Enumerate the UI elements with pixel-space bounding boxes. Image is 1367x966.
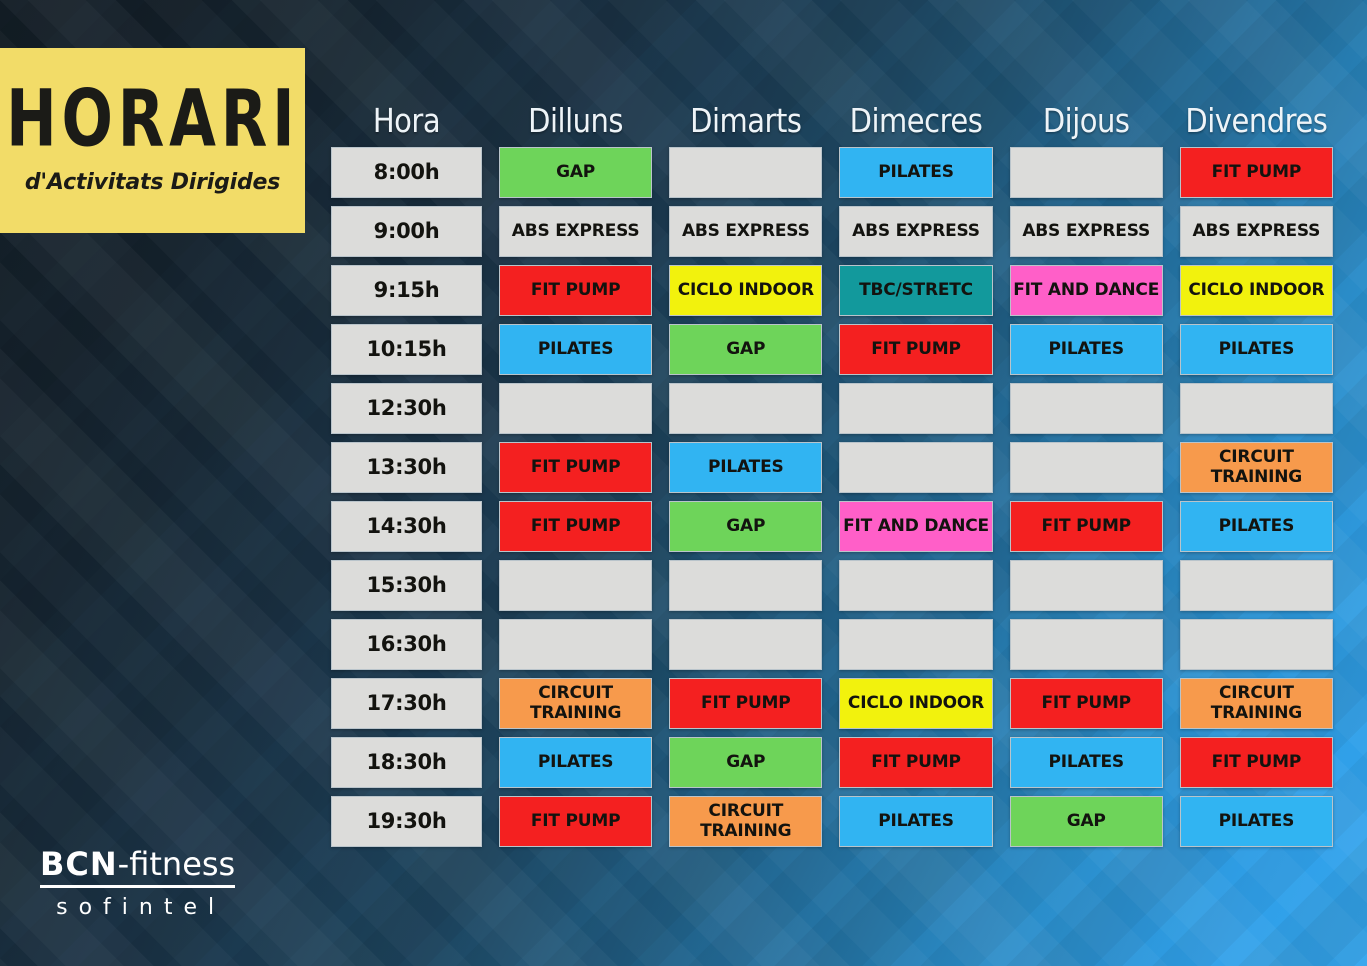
activity-label: ABS EXPRESS <box>682 222 810 240</box>
table-row: 14:30hFIT PUMPGAPFIT AND DANCEFIT PUMPPI… <box>331 501 1333 552</box>
table-row: 17:30hCIRCUIT TRAININGFIT PUMPCICLO INDO… <box>331 678 1333 729</box>
activity-label: FIT PUMP <box>531 812 621 830</box>
time-cell: 16:30h <box>331 619 482 670</box>
time-cell: 15:30h <box>331 560 482 611</box>
activity-cell[interactable]: PILATES <box>839 796 992 847</box>
activity-label: PILATES <box>878 163 954 181</box>
activity-cell[interactable]: ABS EXPRESS <box>839 206 992 257</box>
activity-label: GAP <box>556 163 595 181</box>
table-row: 15:30h <box>331 560 1333 611</box>
empty-cell <box>499 560 652 611</box>
empty-cell <box>1180 619 1333 670</box>
activity-cell[interactable]: ABS EXPRESS <box>1180 206 1333 257</box>
activity-label: CICLO INDOOR <box>1188 281 1324 299</box>
activity-cell[interactable]: FIT PUMP <box>499 796 652 847</box>
activity-cell[interactable]: FIT PUMP <box>1180 737 1333 788</box>
activity-label: FIT PUMP <box>871 753 961 771</box>
schedule-table: HoraDillunsDimartsDimecresDijousDivendre… <box>331 104 1333 855</box>
activity-cell[interactable]: CICLO INDOOR <box>1180 265 1333 316</box>
activity-cell[interactable]: GAP <box>1010 796 1163 847</box>
activity-cell[interactable]: FIT PUMP <box>499 265 652 316</box>
activity-label: TBC/STRETC <box>859 281 973 299</box>
activity-label: PILATES <box>538 753 614 771</box>
activity-label: ABS EXPRESS <box>1022 222 1150 240</box>
activity-label: PILATES <box>1219 340 1295 358</box>
activity-cell[interactable]: FIT PUMP <box>1010 501 1163 552</box>
activity-label: CIRCUIT TRAINING <box>1211 684 1302 722</box>
column-header-dijous: Dijous <box>1010 102 1163 140</box>
activity-label: PILATES <box>1048 340 1124 358</box>
activity-cell[interactable]: GAP <box>669 324 822 375</box>
brand-logo: BCN-fitness sofintel <box>40 848 235 920</box>
activity-label: ABS EXPRESS <box>512 222 640 240</box>
logo-fitness-text: -fitness <box>118 845 236 883</box>
activity-label: ABS EXPRESS <box>1193 222 1321 240</box>
activity-cell[interactable]: GAP <box>499 147 652 198</box>
activity-cell[interactable]: FIT PUMP <box>499 442 652 493</box>
activity-cell[interactable]: ABS EXPRESS <box>669 206 822 257</box>
page-title: HORARI <box>6 79 299 158</box>
activity-cell[interactable]: TBC/STRETC <box>839 265 992 316</box>
activity-cell[interactable]: CIRCUIT TRAINING <box>669 796 822 847</box>
activity-label: GAP <box>726 753 765 771</box>
activity-cell[interactable]: PILATES <box>1010 324 1163 375</box>
time-cell: 10:15h <box>331 324 482 375</box>
time-cell: 9:00h <box>331 206 482 257</box>
activity-label: PILATES <box>538 340 614 358</box>
time-cell: 8:00h <box>331 147 482 198</box>
empty-cell <box>499 619 652 670</box>
column-header-dimecres: Dimecres <box>839 102 992 140</box>
activity-label: FIT PUMP <box>531 458 621 476</box>
time-cell: 18:30h <box>331 737 482 788</box>
table-row: 10:15hPILATESGAPFIT PUMPPILATESPILATES <box>331 324 1333 375</box>
empty-cell <box>1010 619 1163 670</box>
activity-label: PILATES <box>1048 753 1124 771</box>
column-header-dimarts: Dimarts <box>669 102 822 140</box>
time-cell: 12:30h <box>331 383 482 434</box>
activity-cell[interactable]: CIRCUIT TRAINING <box>1180 442 1333 493</box>
logo-tagline: sofintel <box>40 895 235 920</box>
empty-cell <box>1010 383 1163 434</box>
column-header-hora: Hora <box>331 102 482 140</box>
activity-label: FIT PUMP <box>531 517 621 535</box>
activity-cell[interactable]: PILATES <box>1180 796 1333 847</box>
activity-cell[interactable]: ABS EXPRESS <box>1010 206 1163 257</box>
table-row: 9:15hFIT PUMPCICLO INDOORTBC/STRETCFIT A… <box>331 265 1333 316</box>
time-cell: 13:30h <box>331 442 482 493</box>
activity-label: FIT PUMP <box>1041 694 1131 712</box>
activity-cell[interactable]: FIT PUMP <box>1010 678 1163 729</box>
activity-label: FIT PUMP <box>1212 163 1302 181</box>
column-header-dilluns: Dilluns <box>499 102 652 140</box>
activity-label: PILATES <box>708 458 784 476</box>
table-row: 16:30h <box>331 619 1333 670</box>
activity-label: FIT PUMP <box>701 694 791 712</box>
empty-cell <box>1010 560 1163 611</box>
activity-cell[interactable]: CIRCUIT TRAINING <box>499 678 652 729</box>
activity-cell[interactable]: CICLO INDOOR <box>839 678 992 729</box>
page-subtitle: d'Activitats Dirigides <box>25 170 280 195</box>
activity-label: CICLO INDOOR <box>848 694 984 712</box>
activity-cell[interactable]: CICLO INDOOR <box>669 265 822 316</box>
activity-label: GAP <box>726 340 765 358</box>
activity-label: PILATES <box>1219 812 1295 830</box>
activity-cell[interactable]: FIT PUMP <box>1180 147 1333 198</box>
time-cell: 17:30h <box>331 678 482 729</box>
activity-label: CIRCUIT TRAINING <box>530 684 621 722</box>
activity-cell[interactable]: PILATES <box>839 147 992 198</box>
activity-label: GAP <box>726 517 765 535</box>
activity-label: FIT PUMP <box>871 340 961 358</box>
activity-cell[interactable]: PILATES <box>1180 501 1333 552</box>
activity-cell[interactable]: PILATES <box>1010 737 1163 788</box>
activity-cell[interactable]: FIT PUMP <box>499 501 652 552</box>
table-row: 12:30h <box>331 383 1333 434</box>
activity-cell[interactable]: FIT AND DANCE <box>1010 265 1163 316</box>
activity-cell[interactable]: GAP <box>669 501 822 552</box>
table-row: 13:30hFIT PUMPPILATESCIRCUIT TRAINING <box>331 442 1333 493</box>
activity-label: CIRCUIT TRAINING <box>1211 448 1302 486</box>
activity-cell[interactable]: PILATES <box>499 737 652 788</box>
activity-cell[interactable]: PILATES <box>669 442 822 493</box>
empty-cell <box>669 560 822 611</box>
activity-label: ABS EXPRESS <box>852 222 980 240</box>
empty-cell <box>839 383 992 434</box>
activity-label: FIT PUMP <box>1041 517 1131 535</box>
logo-wordmark: BCN-fitness <box>40 848 235 888</box>
activity-label: GAP <box>1067 812 1106 830</box>
activity-cell[interactable]: CIRCUIT TRAINING <box>1180 678 1333 729</box>
activity-cell[interactable]: FIT PUMP <box>669 678 822 729</box>
empty-cell <box>1180 560 1333 611</box>
activity-cell[interactable]: ABS EXPRESS <box>499 206 652 257</box>
activity-label: FIT PUMP <box>1212 753 1302 771</box>
time-cell: 14:30h <box>331 501 482 552</box>
activity-label: CIRCUIT TRAINING <box>700 802 791 840</box>
logo-bcn-text: BCN <box>40 845 118 883</box>
empty-cell <box>839 619 992 670</box>
empty-cell <box>669 147 822 198</box>
activity-cell[interactable]: PILATES <box>499 324 652 375</box>
activity-label: CICLO INDOOR <box>678 281 814 299</box>
table-row: 18:30hPILATESGAPFIT PUMPPILATESFIT PUMP <box>331 737 1333 788</box>
activity-label: FIT PUMP <box>531 281 621 299</box>
time-cell: 19:30h <box>331 796 482 847</box>
activity-cell[interactable]: FIT AND DANCE <box>839 501 992 552</box>
activity-label: FIT AND DANCE <box>843 517 989 535</box>
empty-cell <box>1010 147 1163 198</box>
table-header-row: HoraDillunsDimartsDimecresDijousDivendre… <box>331 104 1333 138</box>
table-row: 8:00hGAPPILATESFIT PUMP <box>331 147 1333 198</box>
activity-label: PILATES <box>878 812 954 830</box>
table-row: 19:30hFIT PUMPCIRCUIT TRAININGPILATESGAP… <box>331 796 1333 847</box>
empty-cell <box>669 619 822 670</box>
empty-cell <box>839 560 992 611</box>
activity-cell[interactable]: FIT PUMP <box>839 737 992 788</box>
empty-cell <box>499 383 652 434</box>
activity-cell[interactable]: PILATES <box>1180 324 1333 375</box>
activity-cell[interactable]: GAP <box>669 737 822 788</box>
empty-cell <box>1180 383 1333 434</box>
time-cell: 9:15h <box>331 265 482 316</box>
empty-cell <box>839 442 992 493</box>
activity-cell[interactable]: FIT PUMP <box>839 324 992 375</box>
empty-cell <box>669 383 822 434</box>
column-header-divendres: Divendres <box>1180 102 1333 140</box>
activity-label: PILATES <box>1219 517 1295 535</box>
activity-label: FIT AND DANCE <box>1013 281 1159 299</box>
empty-cell <box>1010 442 1163 493</box>
table-row: 9:00hABS EXPRESSABS EXPRESSABS EXPRESSAB… <box>331 206 1333 257</box>
title-card: HORARI d'Activitats Dirigides <box>0 48 305 233</box>
